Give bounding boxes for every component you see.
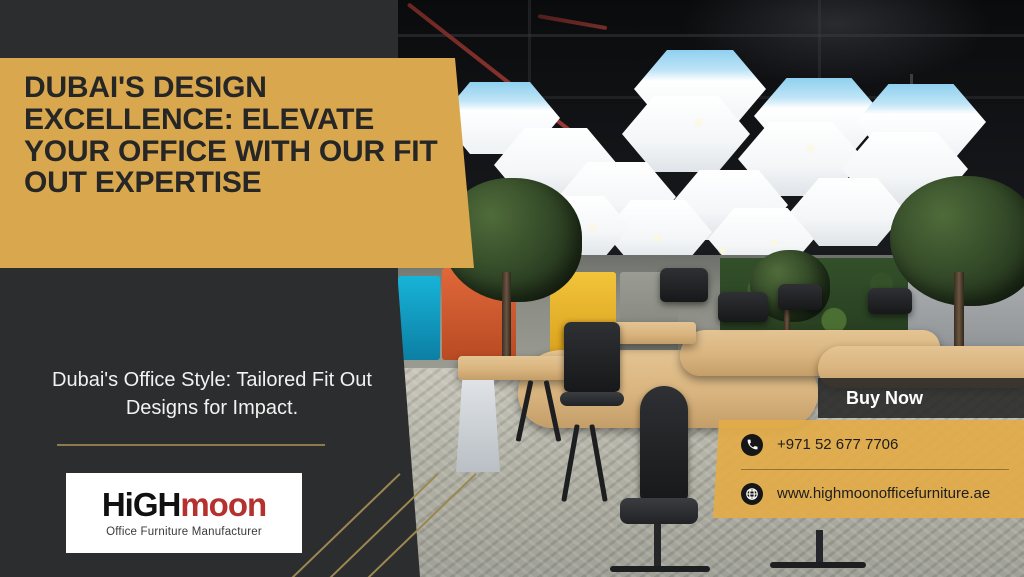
ceiling-light — [770, 238, 779, 247]
contact-divider — [741, 469, 1009, 470]
logo-word-second: moon — [180, 486, 266, 523]
contact-panel: +971 52 677 7706 www.highmoonofficefurni… — [713, 420, 1024, 518]
website-url: www.highmoonofficefurniture.ae — [777, 485, 990, 502]
ceiling-light — [694, 118, 703, 127]
ceiling-beam — [398, 34, 1024, 37]
buy-now-button[interactable]: Buy Now — [818, 378, 1024, 418]
meeting-booth — [398, 276, 440, 360]
ceiling-light — [806, 144, 815, 153]
page-title: DUBAI'S DESIGN EXCELLENCE: ELEVATE YOUR … — [0, 58, 474, 199]
ceiling-light — [588, 224, 597, 233]
ceiling-light — [718, 246, 727, 255]
marketing-banner: DUBAI'S DESIGN EXCELLENCE: ELEVATE YOUR … — [0, 0, 1024, 577]
logo-wordmark: HiGHmoon — [102, 488, 266, 521]
buy-now-label: Buy Now — [818, 388, 923, 409]
globe-icon — [741, 483, 763, 505]
desk-pedestal — [456, 380, 500, 472]
logo-word-first: HiGH — [102, 486, 181, 523]
headline-panel: DUBAI'S DESIGN EXCELLENCE: ELEVATE YOUR … — [0, 58, 474, 268]
subtitle-text: Dubai's Office Style: Tailored Fit Out D… — [52, 366, 372, 423]
brand-logo: HiGHmoon Office Furniture Manufacturer — [66, 473, 302, 553]
phone-number: +971 52 677 7706 — [777, 436, 898, 453]
logo-tagline: Office Furniture Manufacturer — [106, 526, 262, 538]
phone-icon — [741, 434, 763, 456]
ceiling-light — [652, 234, 661, 243]
contact-phone-row[interactable]: +971 52 677 7706 — [713, 420, 1024, 469]
contact-website-row[interactable]: www.highmoonofficefurniture.ae — [713, 469, 1024, 518]
divider-rule — [57, 444, 325, 446]
